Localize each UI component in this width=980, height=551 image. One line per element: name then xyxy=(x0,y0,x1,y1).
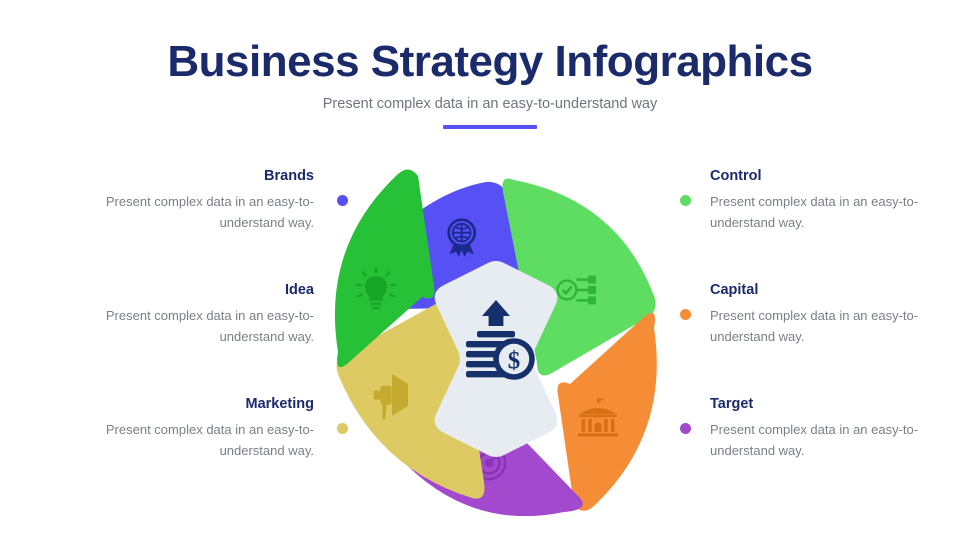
legend-label-brands: Brands xyxy=(48,168,314,185)
legend-label-idea: Idea xyxy=(48,282,314,299)
legend-item-target[interactable]: Target Present complex data in an easy-t… xyxy=(672,396,972,510)
page-title: Business Strategy Infographics xyxy=(0,38,980,86)
legend-label-control: Control xyxy=(710,168,972,185)
legend-dot-target xyxy=(680,423,691,434)
legend-item-marketing[interactable]: Marketing Present complex data in an eas… xyxy=(48,396,348,510)
legend-dot-control xyxy=(680,195,691,206)
legend-item-capital[interactable]: Capital Present complex data in an easy-… xyxy=(672,282,972,396)
legend-text-brands: Present complex data in an easy-to-under… xyxy=(48,192,314,232)
legend-text-control: Present complex data in an easy-to-under… xyxy=(710,192,972,232)
legend-label-marketing: Marketing xyxy=(48,396,314,413)
pinwheel-diagram: $ xyxy=(318,160,674,516)
header: Business Strategy Infographics Present c… xyxy=(0,38,980,112)
legend-item-control[interactable]: Control Present complex data in an easy-… xyxy=(672,168,972,282)
title-underline-rule xyxy=(443,125,537,129)
legend-text-capital: Present complex data in an easy-to-under… xyxy=(710,306,972,346)
legend-text-idea: Present complex data in an easy-to-under… xyxy=(48,306,314,346)
legend-item-idea[interactable]: Idea Present complex data in an easy-to-… xyxy=(48,282,348,396)
legend-label-target: Target xyxy=(710,396,972,413)
legend-dot-capital xyxy=(680,309,691,320)
legend-text-target: Present complex data in an easy-to-under… xyxy=(710,420,972,460)
legend-right: Control Present complex data in an easy-… xyxy=(672,168,972,510)
svg-text:$: $ xyxy=(508,348,521,375)
legend-left: Brands Present complex data in an easy-t… xyxy=(48,168,348,510)
slide-canvas: Business Strategy Infographics Present c… xyxy=(0,0,980,551)
page-subtitle: Present complex data in an easy-to-under… xyxy=(0,96,980,112)
legend-item-brands[interactable]: Brands Present complex data in an easy-t… xyxy=(48,168,348,282)
legend-label-capital: Capital xyxy=(710,282,972,299)
legend-text-marketing: Present complex data in an easy-to-under… xyxy=(48,420,314,460)
